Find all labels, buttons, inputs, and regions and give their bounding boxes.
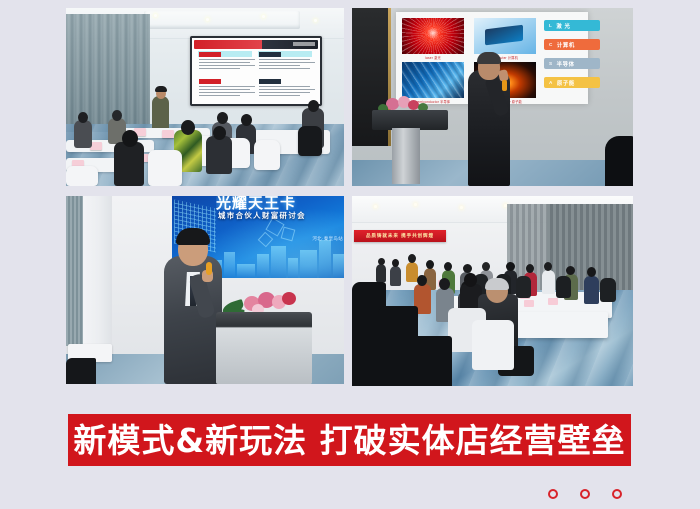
slide-tag-label: 激 光	[556, 22, 570, 30]
lectern-stand	[392, 128, 420, 184]
attendee-body	[376, 264, 386, 282]
slide-quadrant-2	[256, 51, 314, 73]
attendee-head	[464, 273, 477, 287]
pager-dot-1[interactable]	[548, 489, 558, 499]
chair	[472, 320, 514, 370]
attendee-head	[308, 100, 319, 112]
attendee-head	[482, 262, 490, 271]
attendee-head	[587, 267, 596, 277]
slide-quadrant-4	[256, 78, 314, 100]
lecturer-hair	[477, 52, 501, 64]
lectern	[216, 314, 312, 384]
attendee-head	[426, 260, 434, 269]
photo-topright-lecture[interactable]: laser 激光 computer 计算机 semiconductor 半导体 …	[352, 8, 633, 186]
attendee-head	[526, 264, 534, 273]
ceiling-light-icon	[314, 19, 317, 22]
photo-topleft-meeting-room[interactable]	[66, 8, 344, 186]
attendee-head	[112, 110, 122, 121]
ceiling-trim	[144, 11, 300, 29]
foreground-chair	[410, 336, 452, 386]
slide-tag-label: 原子能	[557, 79, 575, 87]
name-card	[548, 298, 558, 305]
pager-dot-3[interactable]	[612, 489, 622, 499]
backdrop-title-main: 光耀天王卡	[216, 196, 344, 210]
slide-tag-key: C	[549, 42, 553, 47]
photo-bottomright-audience[interactable]: 品质铸就未来 携手共创辉煌	[352, 196, 633, 386]
slide-quadrant-3	[196, 78, 254, 100]
pager-dots[interactable]	[548, 486, 632, 502]
slide-tag-semiconductor: S 半导体	[544, 58, 600, 69]
attendee-body	[74, 120, 92, 148]
pager-dot-2[interactable]	[580, 489, 590, 499]
slide-image-semiconductor	[402, 62, 464, 98]
projection-screen	[190, 36, 322, 106]
foreground-chair	[66, 358, 96, 384]
slide-tag-laser: L 激 光	[544, 20, 600, 31]
attendee-head	[78, 112, 88, 123]
ceiling-light-icon	[460, 206, 463, 209]
ceiling-light-icon	[262, 15, 265, 18]
slide-header-bar	[194, 40, 318, 49]
attendee-body	[114, 142, 144, 186]
attendee-head	[181, 120, 195, 135]
wall-banner-text: 品质铸就未来 携手共创辉煌	[366, 233, 434, 239]
slide-tag-key: S	[549, 61, 553, 66]
slide-image-computer	[474, 18, 536, 54]
photo-bottomleft-keynote[interactable]: 光耀天王卡 城市合伙人财富研讨会 河北·秦皇岛站	[66, 196, 344, 384]
microphone-icon	[502, 80, 507, 91]
foreground-silhouette	[605, 136, 633, 186]
attendee-head	[213, 126, 226, 140]
name-card	[162, 130, 174, 138]
headline-text: 新模式&新玩法 打破实体店经营壁垒	[73, 424, 625, 457]
microphone-icon	[206, 262, 212, 275]
backdrop-title-sub: 城市合伙人财富研讨会	[218, 210, 306, 221]
slide-caption-laser: laser 激光	[402, 55, 464, 60]
attendee-head	[217, 112, 228, 124]
attendee-head	[378, 258, 385, 265]
attendee-head	[544, 262, 552, 271]
window-curtain	[66, 196, 83, 346]
attendee-head	[392, 259, 399, 267]
slide-tag-computer: C 计算机	[544, 39, 600, 50]
ceiling-light-icon	[154, 14, 157, 17]
slide-tag-label: 计算机	[557, 41, 575, 49]
ceiling-light-icon	[414, 203, 417, 206]
chair	[148, 150, 182, 186]
attendee-body	[542, 270, 555, 294]
ceiling-light-icon	[374, 205, 377, 208]
attendee-head	[241, 114, 252, 126]
attendee-head	[566, 266, 575, 275]
speaker-hair	[176, 228, 210, 245]
name-card	[524, 300, 534, 307]
attendee-head	[408, 254, 416, 263]
slide-image-laser	[402, 18, 464, 54]
attendee-body	[390, 266, 401, 286]
attendee-foreground-hair	[485, 278, 509, 290]
chair	[556, 276, 571, 298]
slide-tag-key: A	[549, 80, 553, 85]
wall-banner: 品质铸就未来 携手共创辉煌	[354, 230, 446, 242]
chair	[516, 276, 531, 298]
slide-tag-label: 半导体	[557, 60, 575, 68]
headline-banner: 新模式&新玩法 打破实体店经营壁垒	[68, 414, 631, 466]
attendee-head	[417, 275, 427, 286]
page-root: laser 激光 computer 计算机 semiconductor 半导体 …	[0, 0, 700, 509]
lectern	[372, 110, 448, 130]
ceiling-light-icon	[206, 18, 209, 21]
attendee-body	[206, 136, 232, 174]
backdrop-location: 河北·秦皇岛站	[312, 236, 343, 242]
attendee-head	[122, 130, 138, 147]
slide-quadrant-1	[196, 51, 254, 73]
chair	[298, 126, 322, 156]
chair	[600, 278, 616, 302]
photo-collage: laser 激光 computer 计算机 semiconductor 半导体 …	[0, 0, 700, 390]
attendee-head	[439, 278, 450, 290]
slide-tag-key: L	[549, 23, 552, 28]
slide-tag-atomic-energy: A 原子能	[544, 77, 600, 88]
chair	[254, 140, 280, 170]
chair	[66, 166, 98, 186]
attendee-head	[444, 262, 452, 271]
presenter-hair	[155, 86, 167, 92]
attendee-head	[463, 264, 472, 273]
attendee-body	[584, 276, 599, 304]
attendee-head	[506, 262, 515, 271]
